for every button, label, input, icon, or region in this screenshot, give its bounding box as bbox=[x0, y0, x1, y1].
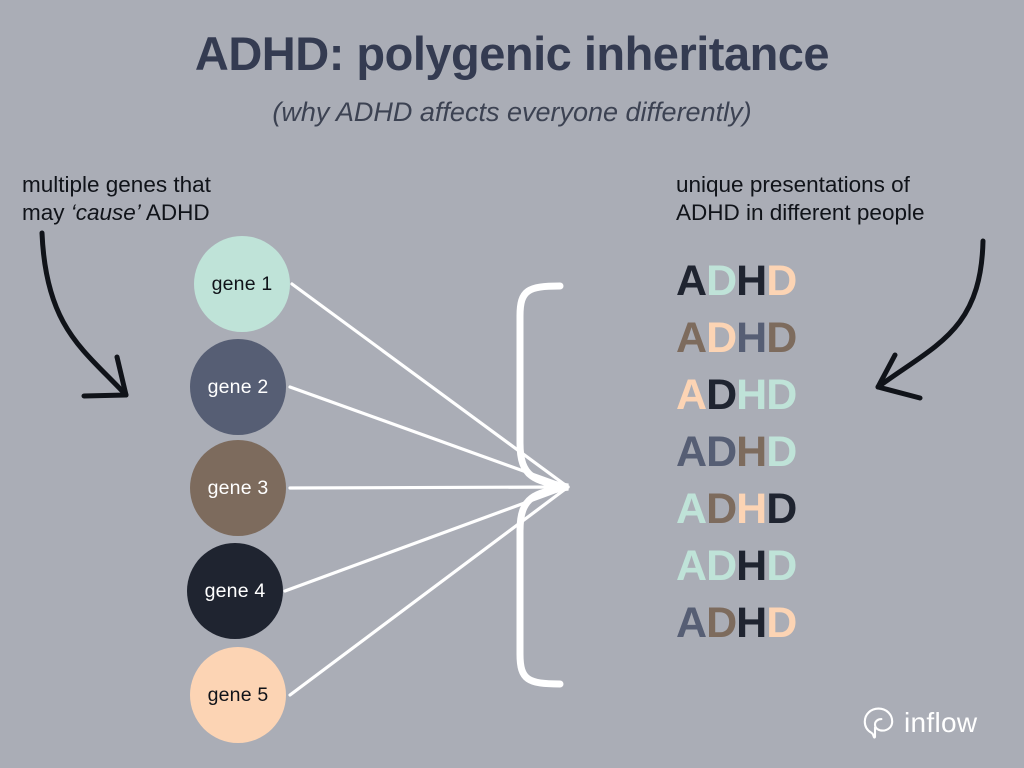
gene-circle-3[interactable]: gene 3 bbox=[190, 440, 286, 536]
inflow-logo: inflow bbox=[862, 706, 977, 739]
adhd-row: ADHD bbox=[676, 310, 906, 367]
adhd-letter: D bbox=[766, 542, 796, 591]
inflow-brain-icon bbox=[862, 706, 895, 739]
adhd-letter: D bbox=[706, 485, 736, 534]
adhd-letter: A bbox=[676, 599, 706, 648]
adhd-letter: H bbox=[736, 485, 766, 534]
adhd-letter: D bbox=[766, 485, 796, 534]
caption-right-line1: unique presentations of bbox=[676, 171, 996, 199]
gene-label-2: gene 2 bbox=[208, 376, 269, 399]
adhd-letter: D bbox=[706, 542, 736, 591]
gene-circle-5[interactable]: gene 5 bbox=[190, 647, 286, 743]
adhd-letter: D bbox=[766, 371, 796, 420]
adhd-letter: H bbox=[736, 542, 766, 591]
gene-connector-line bbox=[292, 284, 568, 487]
caption-left-line2: may ‘cause’ ADHD bbox=[22, 199, 312, 227]
page-title: ADHD: polygenic inheritance bbox=[0, 26, 1024, 81]
caption-right: unique presentations of ADHD in differen… bbox=[676, 171, 996, 227]
gene-label-1: gene 1 bbox=[212, 273, 273, 296]
adhd-letter: H bbox=[736, 257, 766, 306]
arrow-left-curved-icon bbox=[42, 233, 126, 396]
page-subtitle: (why ADHD affects everyone differently) bbox=[0, 97, 1024, 128]
adhd-row: ADHD bbox=[676, 424, 906, 481]
adhd-letter: D bbox=[706, 314, 736, 363]
gene-label-3: gene 3 bbox=[208, 477, 269, 500]
gene-connector-line bbox=[290, 387, 568, 487]
gene-label-5: gene 5 bbox=[208, 684, 269, 707]
adhd-letter: H bbox=[736, 314, 766, 363]
inflow-logo-text: inflow bbox=[904, 707, 977, 739]
adhd-letter: D bbox=[706, 428, 736, 477]
adhd-row: ADHD bbox=[676, 367, 906, 424]
adhd-presentations-list: ADHDADHDADHDADHDADHDADHDADHD bbox=[676, 253, 906, 652]
gene-connector-line bbox=[285, 487, 568, 591]
adhd-letter: D bbox=[706, 257, 736, 306]
curly-brace-icon bbox=[520, 286, 568, 684]
adhd-letter: D bbox=[766, 428, 796, 477]
adhd-letter: D bbox=[766, 599, 796, 648]
gene-connector-line bbox=[290, 487, 568, 488]
caption-left-line1: multiple genes that bbox=[22, 171, 312, 199]
gene-connector-line bbox=[290, 487, 568, 695]
adhd-letter: H bbox=[736, 371, 766, 420]
gene-label-4: gene 4 bbox=[205, 580, 266, 603]
adhd-row: ADHD bbox=[676, 481, 906, 538]
adhd-letter: A bbox=[676, 314, 706, 363]
adhd-row: ADHD bbox=[676, 595, 906, 652]
caption-right-line2: ADHD in different people bbox=[676, 199, 996, 227]
caption-left-line2-after: ADHD bbox=[141, 200, 210, 225]
caption-left-line2-before: may bbox=[22, 200, 71, 225]
adhd-row: ADHD bbox=[676, 538, 906, 595]
adhd-row: ADHD bbox=[676, 253, 906, 310]
adhd-letter: H bbox=[736, 599, 766, 648]
gene-circle-2[interactable]: gene 2 bbox=[190, 339, 286, 435]
adhd-letter: A bbox=[676, 428, 706, 477]
infographic-canvas: ADHD: polygenic inheritance (why ADHD af… bbox=[0, 0, 1024, 768]
gene-circle-1[interactable]: gene 1 bbox=[194, 236, 290, 332]
adhd-letter: D bbox=[766, 257, 796, 306]
adhd-letter: A bbox=[676, 257, 706, 306]
adhd-letter: H bbox=[736, 428, 766, 477]
adhd-letter: D bbox=[706, 371, 736, 420]
adhd-letter: D bbox=[706, 599, 736, 648]
adhd-letter: A bbox=[676, 371, 706, 420]
adhd-letter: A bbox=[676, 542, 706, 591]
caption-left-emphasis: ‘cause’ bbox=[71, 200, 141, 225]
adhd-letter: D bbox=[766, 314, 796, 363]
adhd-letter: A bbox=[676, 485, 706, 534]
caption-left: multiple genes that may ‘cause’ ADHD bbox=[22, 171, 312, 227]
connector-lines bbox=[285, 284, 568, 695]
gene-circle-4[interactable]: gene 4 bbox=[187, 543, 283, 639]
